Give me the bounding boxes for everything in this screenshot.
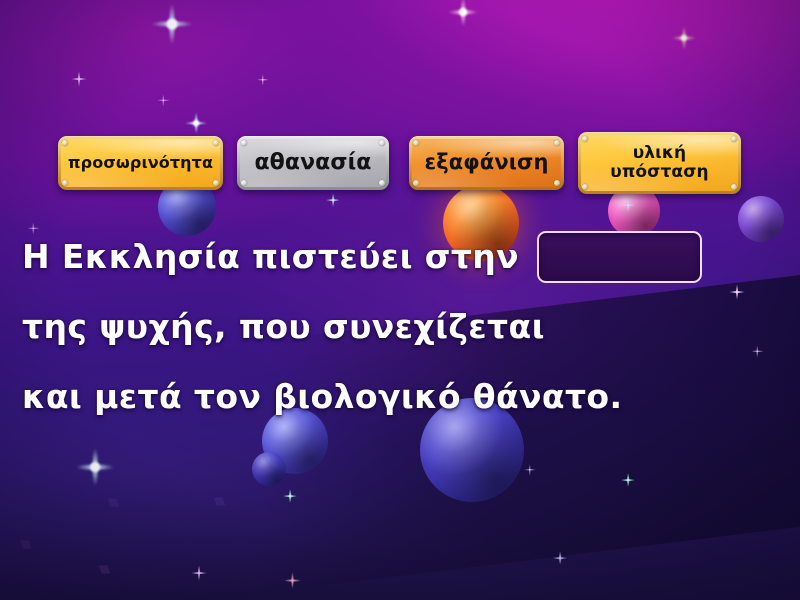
answer-tile-label-line1: υλική [633, 143, 687, 163]
rivet-icon [554, 140, 560, 146]
rivet-icon [413, 140, 419, 146]
sentence-line-3: και μετά τον βιολογικό θάνατο. [22, 362, 782, 432]
answer-tile-exafanisi[interactable]: εξαφάνιση [409, 136, 564, 190]
answer-tile-label-line2: υπόσταση [610, 162, 709, 182]
answer-tile-prosorinotita[interactable]: προσωρινότητα [58, 136, 223, 190]
answer-dropzone[interactable] [537, 231, 702, 283]
rivet-icon [582, 184, 588, 190]
rivet-icon [241, 140, 247, 146]
sentence-text-before-blank: Η Εκκλησία πιστεύει στην [22, 222, 519, 292]
rivet-icon [62, 180, 68, 186]
activity-stage: προσωρινότητα αθανασία εξαφάνιση [0, 0, 800, 600]
answer-tile-athanasia[interactable]: αθανασία [237, 136, 389, 190]
question-sentence: Η Εκκλησία πιστεύει στην της ψυχής, που … [22, 222, 782, 432]
sentence-line-2: της ψυχής, που συνεχίζεται [22, 292, 782, 362]
sentence-line-1: Η Εκκλησία πιστεύει στην [22, 222, 782, 292]
rivet-icon [554, 180, 560, 186]
rivet-icon [731, 136, 737, 142]
answer-tile-yliki-ypostasi[interactable]: υλική υπόσταση [578, 132, 741, 194]
rivet-icon [213, 140, 219, 146]
answer-tile-label: εξαφάνιση [424, 151, 548, 175]
rivet-icon [62, 140, 68, 146]
rivet-icon [379, 180, 385, 186]
rivet-icon [731, 184, 737, 190]
rivet-icon [413, 180, 419, 186]
rivet-icon [213, 180, 219, 186]
rivet-icon [379, 140, 385, 146]
rivet-icon [582, 136, 588, 142]
answer-tile-label: αθανασία [254, 151, 371, 176]
answer-tile-label: προσωρινότητα [68, 154, 213, 172]
rivet-icon [241, 180, 247, 186]
